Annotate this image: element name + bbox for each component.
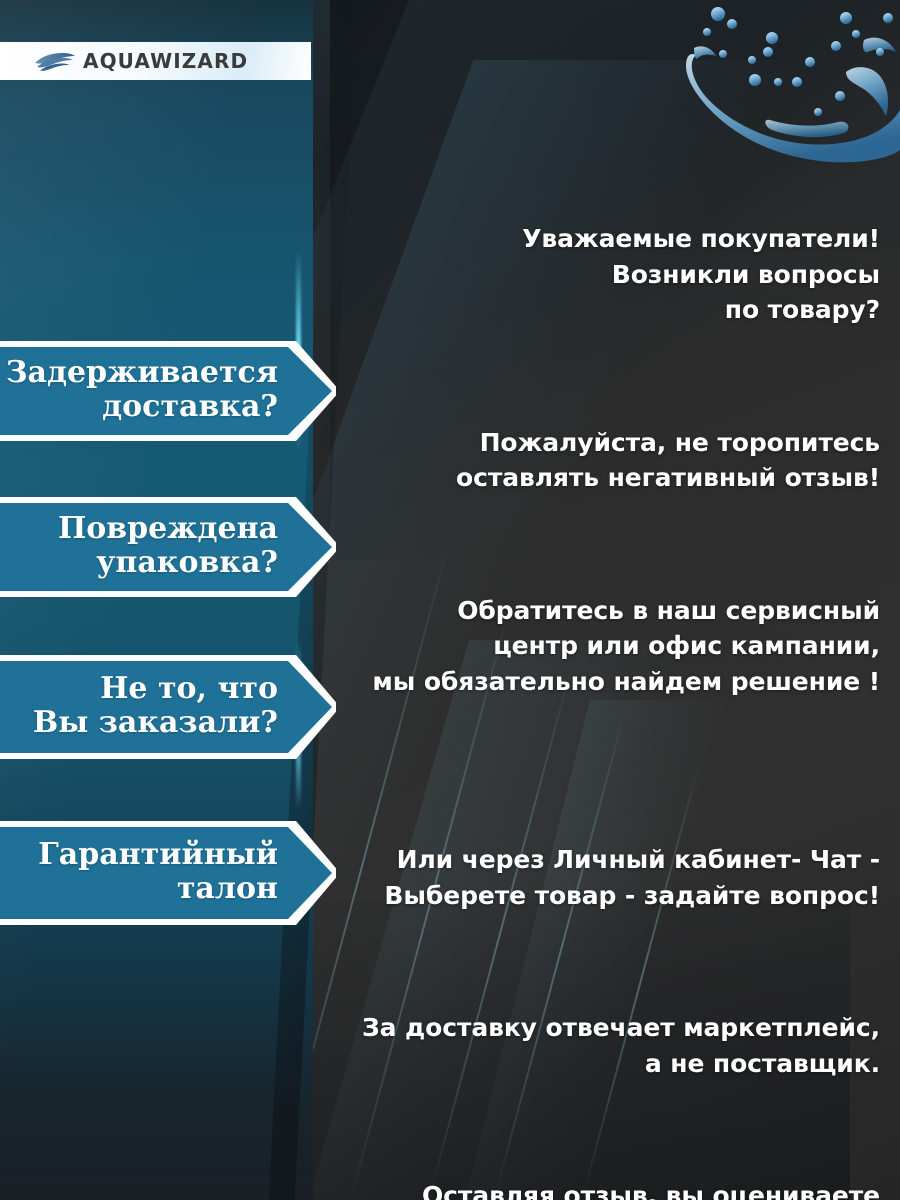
message-paragraph-4: Или через Личный кабинет- Чат - Выберете… xyxy=(330,842,880,913)
badge-line-2: доставка? xyxy=(6,390,278,424)
message-paragraph-1: Уважаемые покупатели! Возникли вопросы п… xyxy=(330,221,880,328)
badge-wrong-item[interactable]: Не то, что Вы заказали? xyxy=(0,655,336,759)
badge-line-2: упаковка? xyxy=(58,546,278,580)
badge-line-1: Задерживается xyxy=(6,355,278,390)
wave-swoosh-icon xyxy=(34,50,76,72)
message-block: Уважаемые покупатели! Возникли вопросы п… xyxy=(330,150,880,1200)
badge-line-2: Вы заказали? xyxy=(33,706,278,740)
message-paragraph-2: Пожалуйста, не торопитесь оставлять нега… xyxy=(330,425,880,496)
brand-name: AQUAWIZARD xyxy=(83,49,248,73)
message-paragraph-6: Оставляя отзыв, вы оцениваете только кач… xyxy=(330,1178,880,1200)
badge-line-1: Гарантийный xyxy=(38,837,278,872)
badge-line-2: талон xyxy=(38,872,278,906)
badge-damaged-packaging[interactable]: Повреждена упаковка? xyxy=(0,497,336,597)
badge-warranty-card[interactable]: Гарантийный талон xyxy=(0,821,336,925)
badge-line-1: Не то, что xyxy=(100,671,278,706)
badge-line-1: Повреждена xyxy=(58,511,278,546)
message-paragraph-3: Обратитесь в наш сервисный центр или офи… xyxy=(330,593,880,700)
left-panel-sheen xyxy=(0,0,313,1200)
badge-delayed-delivery[interactable]: Задерживается доставка? xyxy=(0,341,336,441)
brand-logo-bar: AQUAWIZARD xyxy=(0,42,311,80)
promo-infographic: AQUAWIZARD Задерживается доставка? Повре… xyxy=(0,0,900,1200)
message-paragraph-5: За доставку отвечает маркетплейс, а не п… xyxy=(330,1010,880,1081)
